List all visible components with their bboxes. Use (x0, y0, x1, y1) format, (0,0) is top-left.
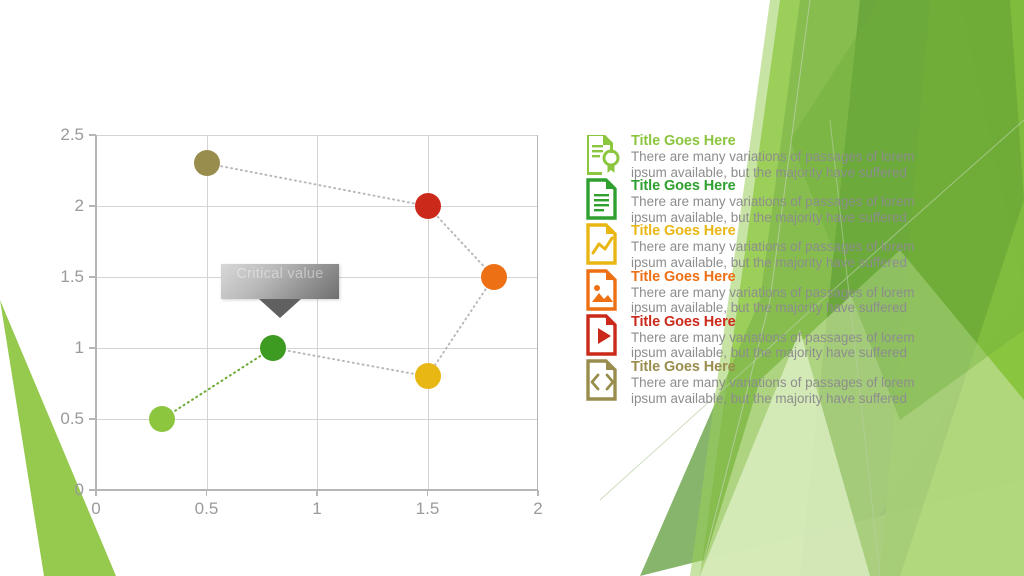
point-light-green[interactable] (149, 406, 175, 432)
image-document-icon (583, 268, 623, 312)
list-item-text: Title Goes HereThere are many variations… (631, 132, 943, 180)
video-document-icon (583, 313, 623, 357)
list-item-text: Title Goes HereThere are many variations… (631, 222, 943, 270)
y-tick-mark (89, 205, 96, 207)
list-item-description: There are many variations of passages of… (631, 194, 943, 225)
point-yellow[interactable] (415, 363, 441, 389)
text-document-icon (583, 177, 623, 221)
y-tick-label: 0.5 (60, 409, 84, 429)
point-red[interactable] (415, 193, 441, 219)
list-item-text: Title Goes HereThere are many variations… (631, 358, 943, 406)
y-tick-label: 1.5 (60, 267, 84, 287)
critical-value-callout[interactable]: Critical value (221, 264, 339, 299)
link-orange-yellow (428, 277, 494, 376)
list-item[interactable]: Title Goes HereThere are many variations… (583, 177, 953, 225)
callout-arrow-icon (259, 299, 301, 318)
connector-lines (96, 135, 538, 490)
x-tick-mark (206, 490, 208, 496)
list-item-description: There are many variations of passages of… (631, 239, 943, 270)
list-item[interactable]: Title Goes HereThere are many variations… (583, 222, 953, 270)
list-item-description: There are many variations of passages of… (631, 375, 943, 406)
y-tick-mark (89, 276, 96, 278)
list-item-title: Title Goes Here (631, 359, 943, 375)
x-tick-mark (537, 490, 539, 496)
list-item-title: Title Goes Here (631, 314, 943, 330)
link-olive-red (207, 163, 428, 206)
plot-area: 00.511.522.5 00.511.52 (96, 135, 538, 490)
slide-canvas: 00.511.522.5 00.511.52 Critical value Ti… (0, 0, 1024, 576)
list-item-description: There are many variations of passages of… (631, 330, 943, 361)
list-item-description: There are many variations of passages of… (631, 285, 943, 316)
y-tick-mark (89, 347, 96, 349)
certificate-document-icon (583, 132, 623, 176)
feature-list: Title Goes HereThere are many variations… (583, 132, 953, 403)
list-item[interactable]: Title Goes HereThere are many variations… (583, 132, 953, 180)
scatter-chart: 00.511.522.5 00.511.52 Critical value (0, 0, 570, 576)
list-item-description: There are many variations of passages of… (631, 149, 943, 180)
list-item-title: Title Goes Here (631, 223, 943, 239)
y-tick-label: 1 (75, 338, 84, 358)
x-tick-mark (95, 490, 97, 496)
point-orange[interactable] (481, 264, 507, 290)
link-dark-light-green (162, 348, 272, 419)
y-tick-label: 2.5 (60, 125, 84, 145)
point-dark-green[interactable] (260, 335, 286, 361)
list-item-text: Title Goes HereThere are many variations… (631, 177, 943, 225)
code-document-icon (583, 358, 623, 402)
y-tick-label: 2 (75, 196, 84, 216)
list-item-title: Title Goes Here (631, 269, 943, 285)
link-yellow-dark-green (273, 348, 428, 376)
x-tick-mark (316, 490, 318, 496)
list-item[interactable]: Title Goes HereThere are many variations… (583, 358, 953, 406)
y-tick-label: 0 (75, 480, 84, 500)
list-item-text: Title Goes HereThere are many variations… (631, 268, 943, 316)
list-item[interactable]: Title Goes HereThere are many variations… (583, 313, 953, 361)
list-item-title: Title Goes Here (631, 178, 943, 194)
x-tick-label: 1 (312, 499, 321, 519)
y-tick-mark (89, 418, 96, 420)
x-tick-mark (427, 490, 429, 496)
critical-value-label: Critical value (221, 266, 339, 283)
point-olive[interactable] (194, 150, 220, 176)
x-tick-label: 0 (91, 499, 100, 519)
chart-document-icon (583, 222, 623, 266)
x-tick-label: 0.5 (195, 499, 219, 519)
y-tick-mark (89, 134, 96, 136)
list-item-text: Title Goes HereThere are many variations… (631, 313, 943, 361)
list-item-title: Title Goes Here (631, 133, 943, 149)
list-item[interactable]: Title Goes HereThere are many variations… (583, 268, 953, 316)
x-tick-label: 2 (533, 499, 542, 519)
x-tick-label: 1.5 (416, 499, 440, 519)
link-red-orange (428, 206, 494, 277)
